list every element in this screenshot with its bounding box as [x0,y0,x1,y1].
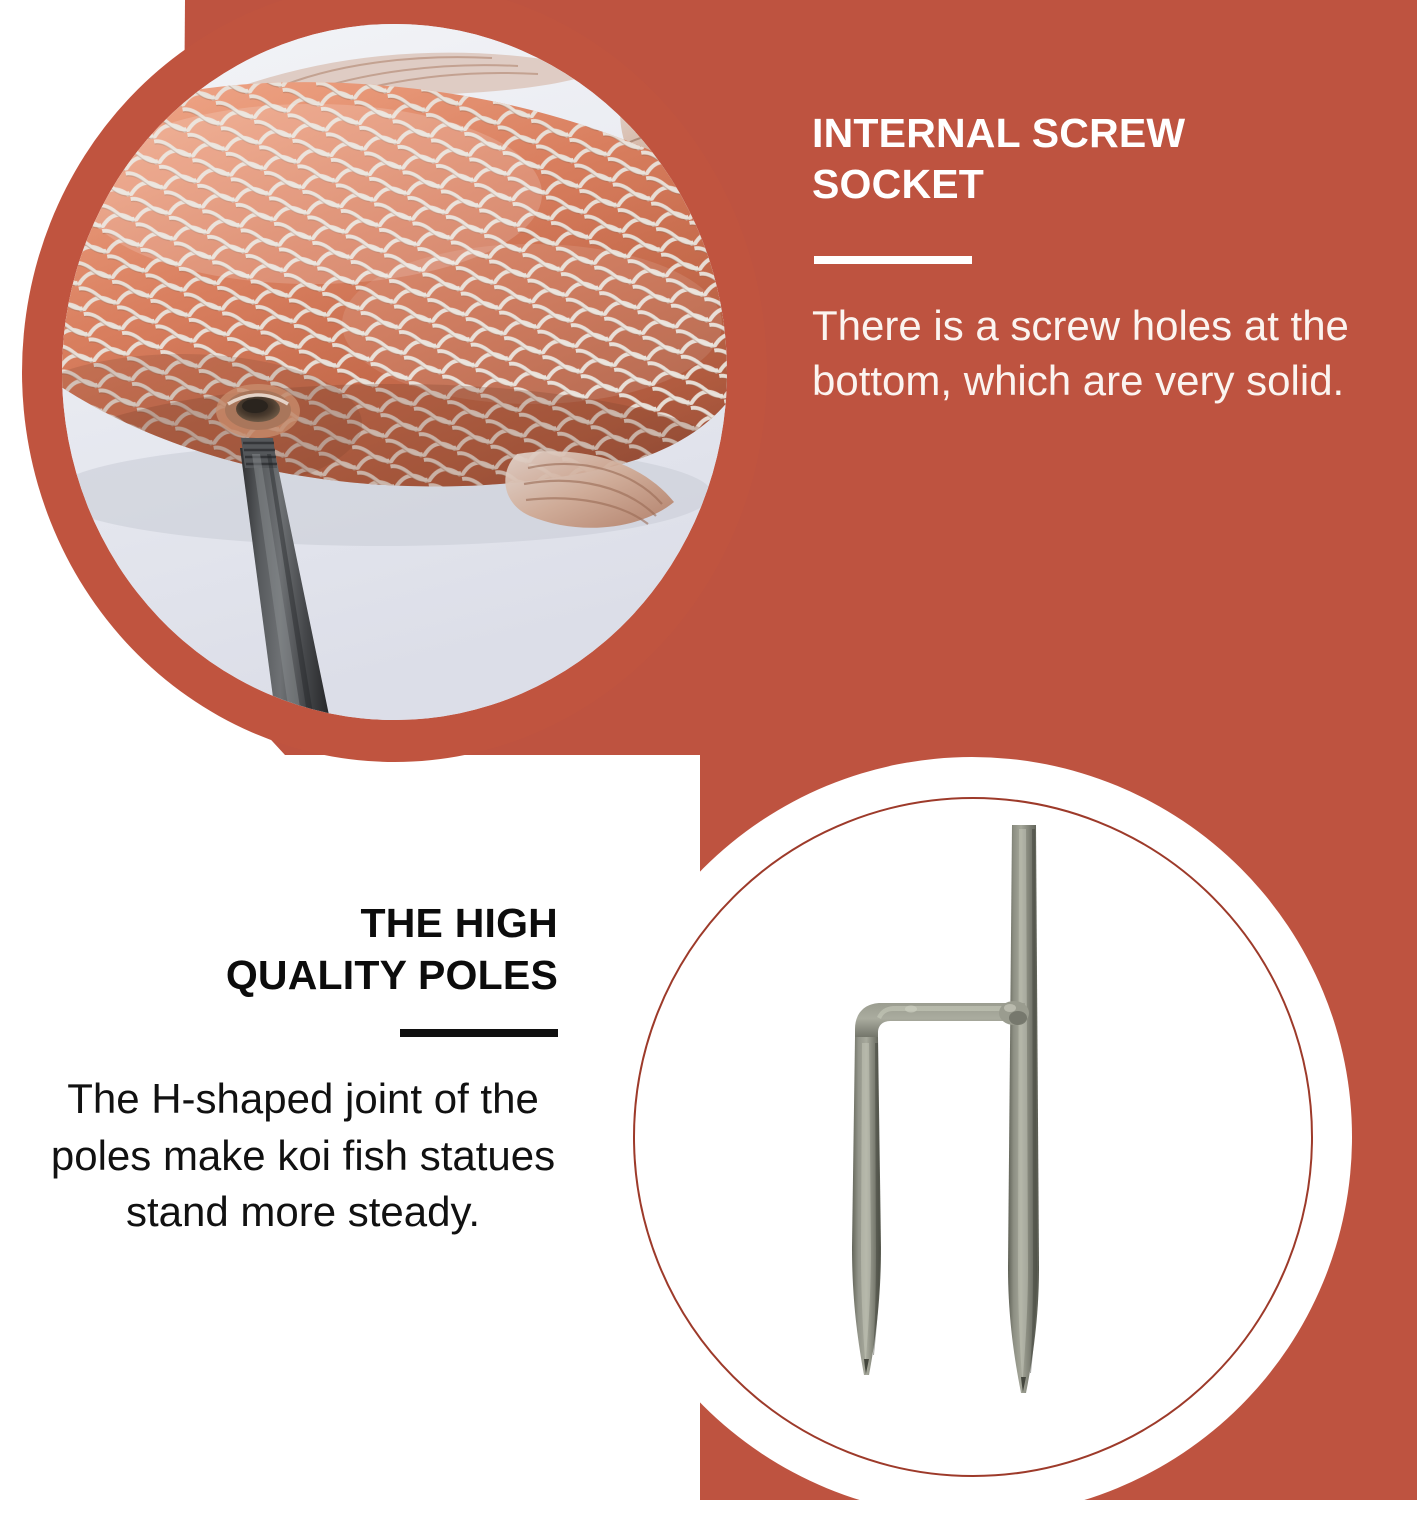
koi-fish-belly-photo [62,24,727,720]
quality-poles-body: The H-shaped joint of the poles make koi… [48,1071,558,1240]
screw-socket-title-line-2: SOCKET [812,159,1357,210]
quality-poles-title-line-1: THE HIGH [48,898,558,950]
quality-poles-title-line-2: QUALITY POLES [48,950,558,1002]
quality-poles-title: THE HIGH QUALITY POLES [48,898,558,1001]
h-shaped-stake-photo [633,797,1313,1477]
quality-poles-divider [400,1029,558,1037]
screw-socket-divider [814,256,972,264]
screw-socket-title-line-1: INTERNAL SCREW [812,108,1357,159]
screw-socket-photo-circle [22,0,767,762]
screw-socket-text-block: INTERNAL SCREW SOCKET There is a screw h… [812,108,1357,409]
quality-poles-text-block: THE HIGH QUALITY POLES The H-shaped join… [48,898,558,1240]
screw-socket-title: INTERNAL SCREW SOCKET [812,108,1357,210]
screw-socket-body: There is a screw holes at the bottom, wh… [812,298,1357,409]
